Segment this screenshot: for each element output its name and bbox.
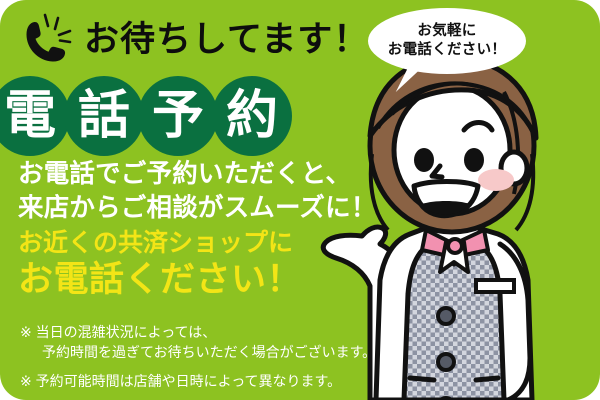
phone-reservation-badge: 電 話 予 約 — [0, 76, 286, 156]
vest-button — [438, 354, 454, 370]
headline-text: お待ちしてます！ — [84, 22, 369, 57]
body-copy: お電話でご予約いただくと、 来店からご相談がスムーズに！ — [18, 158, 377, 225]
eye-left — [414, 148, 434, 172]
blush — [478, 169, 514, 191]
name-tag — [476, 280, 514, 292]
emphasis-line-1: お近くの共済ショップに — [18, 228, 302, 258]
badge-circle: 予 — [138, 76, 218, 156]
eye-right — [464, 148, 484, 172]
vest-button — [438, 308, 454, 324]
ringing-phone-icon — [18, 12, 80, 66]
note-line: 予約時間を過ぎてお待ちいただく場合がございます。 — [20, 342, 376, 362]
note-line: ※ 当日の混雑状況によっては、 — [20, 322, 376, 342]
speech-bubble: お気軽に お電話ください！ — [368, 8, 526, 74]
emphasis-line-2: お電話ください！ — [18, 258, 302, 301]
badge-circle: 電 — [0, 76, 70, 156]
badge-char: 予 — [152, 90, 204, 142]
fine-print-notes: ※ 当日の混雑状況によっては、 予約時間を過ぎてお待ちいただく場合がございます。… — [20, 322, 376, 391]
badge-char: 電 — [4, 90, 56, 142]
speech-bubble-line-2: お電話ください！ — [388, 41, 506, 60]
badge-circle: 約 — [212, 76, 292, 156]
emphasis-copy: お近くの共済ショップに お電話ください！ — [18, 228, 302, 301]
body-line-2: 来店からご相談がスムーズに！ — [18, 192, 377, 226]
badge-char: 話 — [78, 90, 130, 142]
speech-bubble-line-1: お気軽に — [417, 22, 476, 41]
body-line-1: お電話でご予約いただくと、 — [18, 158, 377, 192]
badge-circle: 話 — [64, 76, 144, 156]
note-line: ※ 予約可能時間は店舗や日時によって異なります。 — [20, 371, 376, 391]
badge-char: 約 — [226, 90, 278, 142]
phone-reservation-banner: お待ちしてます！ お気軽に お電話ください！ 電 話 予 約 お電話でご予約いた… — [0, 0, 600, 400]
